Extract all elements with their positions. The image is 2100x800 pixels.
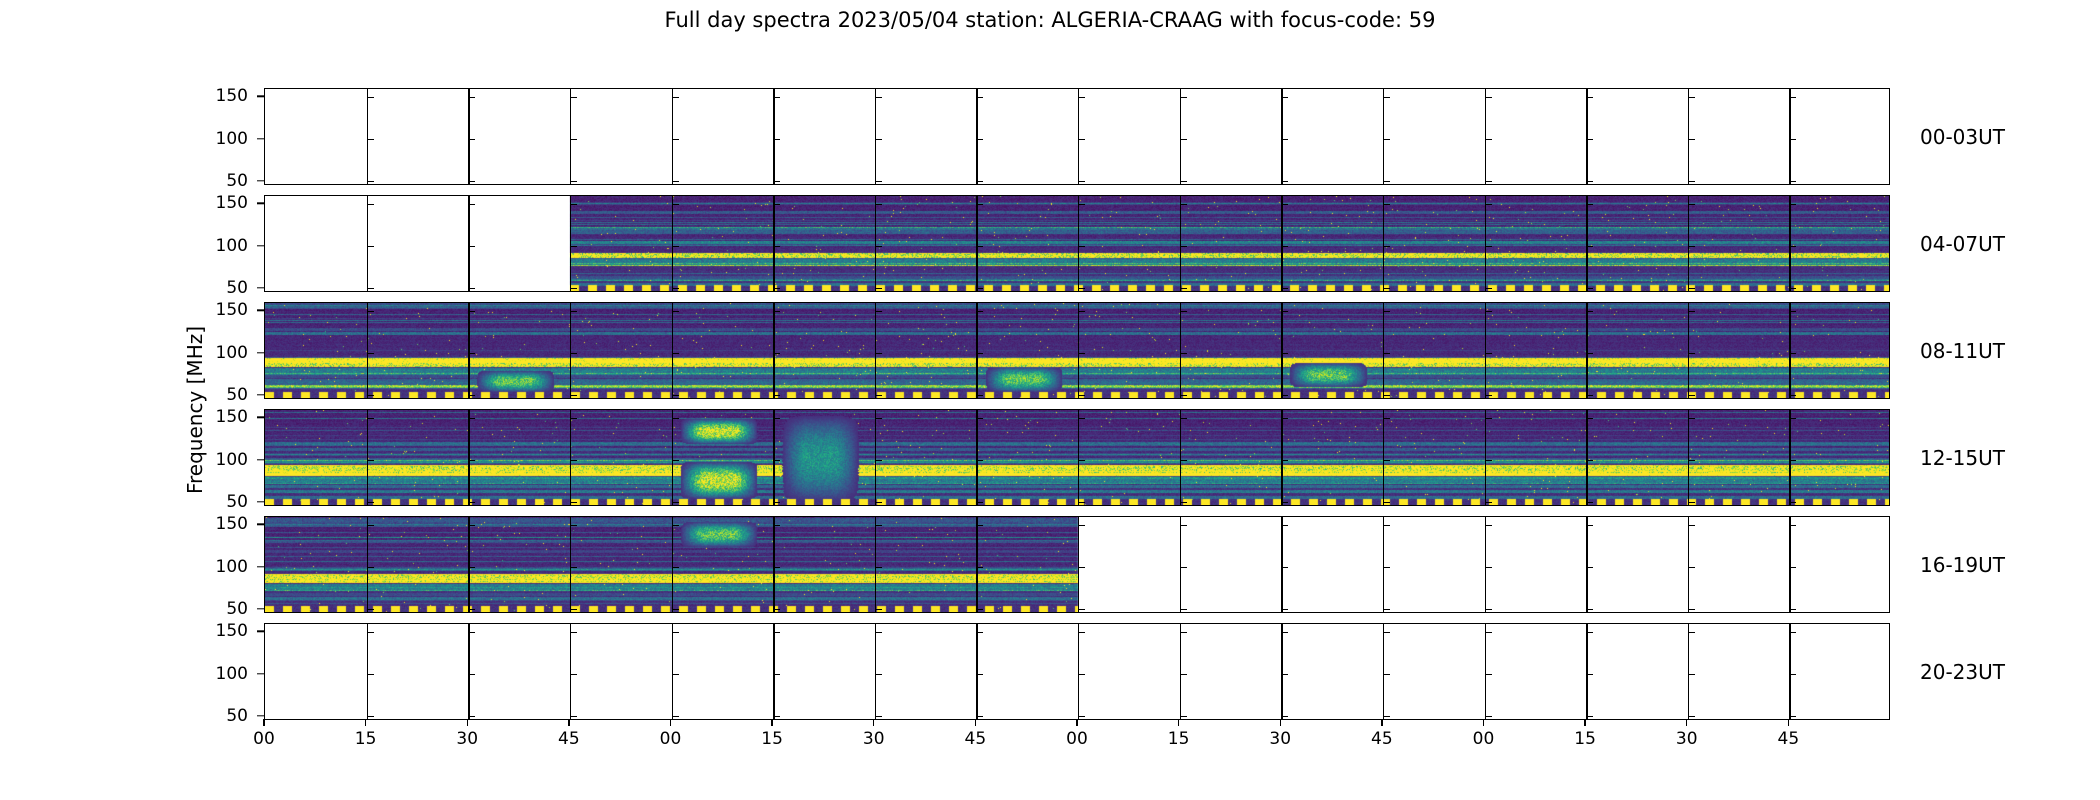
x-tick-mark (670, 719, 671, 726)
y-tick-inner (1586, 181, 1593, 182)
y-tick-inner (1688, 632, 1695, 633)
y-tick-mark (257, 96, 264, 97)
y-tick-label: 50 (188, 171, 248, 191)
y-tick-inner (570, 97, 577, 98)
y-tick-label: 100 (188, 450, 248, 470)
y-tick-inner (1383, 181, 1390, 182)
y-tick-inner (1180, 97, 1187, 98)
spectrogram-figure: Full day spectra 2023/05/04 station: ALG… (0, 0, 2100, 800)
y-tick-inner (1078, 97, 1085, 98)
x-tick-label: 30 (1250, 729, 1310, 749)
panel-separator (1688, 624, 1689, 719)
y-tick-inner (1281, 97, 1288, 98)
y-tick-inner (570, 181, 577, 182)
panel-separator (773, 89, 774, 184)
y-tick-inner (1180, 139, 1187, 140)
y-tick-inner (1078, 181, 1085, 182)
x-tick-label: 15 (1555, 729, 1615, 749)
y-tick-inner (1789, 139, 1796, 140)
y-tick-inner (570, 716, 577, 717)
spectrogram-row-12-15ut (264, 409, 1890, 506)
x-tick-mark (1788, 719, 1789, 726)
y-tick-mark (257, 608, 264, 609)
panel-separator (570, 89, 571, 184)
x-tick-label: 45 (945, 729, 1005, 749)
y-tick-mark (257, 715, 264, 716)
y-tick-label: 100 (188, 129, 248, 149)
spectrogram-row-04-07ut (264, 195, 1890, 292)
x-tick-mark (1686, 719, 1687, 726)
panel-separator (1789, 89, 1790, 184)
y-tick-mark (257, 566, 264, 567)
panel-separator (1485, 624, 1486, 719)
panel-separator (1383, 89, 1384, 184)
y-tick-label: 100 (188, 343, 248, 363)
spectrogram-image (265, 410, 1890, 506)
y-tick-label: 50 (188, 278, 248, 298)
panel-separator (1485, 89, 1486, 184)
panel-separator (1281, 624, 1282, 719)
y-tick-inner (367, 139, 374, 140)
y-tick-inner (1485, 97, 1492, 98)
row-label-12-15ut: 12-15UT (1920, 446, 2005, 470)
x-tick-mark (1483, 719, 1484, 726)
row-label-04-07ut: 04-07UT (1920, 232, 2005, 256)
y-tick-inner (1485, 139, 1492, 140)
row-label-00-03ut: 00-03UT (1920, 125, 2005, 149)
y-tick-inner (1688, 181, 1695, 182)
panel-separator (976, 89, 977, 184)
row-label-16-19ut: 16-19UT (1920, 553, 2005, 577)
y-tick-mark (257, 287, 264, 288)
panel-separator (1281, 89, 1282, 184)
panel-separator (672, 624, 673, 719)
y-tick-label: 50 (188, 492, 248, 512)
y-tick-inner (1383, 97, 1390, 98)
x-tick-mark (365, 719, 366, 726)
panel-separator (1688, 89, 1689, 184)
x-tick-mark (1178, 719, 1179, 726)
x-tick-label: 45 (1758, 729, 1818, 749)
y-tick-mark (257, 138, 264, 139)
y-tick-inner (570, 632, 577, 633)
y-tick-mark (257, 245, 264, 246)
y-tick-inner (672, 716, 679, 717)
panel-separator (875, 89, 876, 184)
y-tick-inner (468, 97, 475, 98)
x-tick-label: 15 (1149, 729, 1209, 749)
panel-separator (1789, 624, 1790, 719)
y-tick-label: 150 (188, 193, 248, 213)
y-tick-inner (1586, 632, 1593, 633)
y-tick-inner (1281, 632, 1288, 633)
y-tick-inner (1688, 716, 1695, 717)
x-tick-mark (568, 719, 569, 726)
figure-title: Full day spectra 2023/05/04 station: ALG… (0, 8, 2100, 32)
panel-gridlines (265, 89, 1889, 184)
y-tick-label: 50 (188, 706, 248, 726)
y-tick-inner (875, 716, 882, 717)
panel-separator (976, 624, 977, 719)
x-tick-mark (873, 719, 874, 726)
x-tick-label: 15 (742, 729, 802, 749)
panel-separator (1180, 89, 1181, 184)
y-tick-mark (257, 417, 264, 418)
x-tick-label: 00 (1454, 729, 1514, 749)
y-tick-mark (257, 394, 264, 395)
y-tick-inner (468, 632, 475, 633)
y-tick-inner (1586, 716, 1593, 717)
x-tick-mark (467, 719, 468, 726)
y-tick-inner (672, 674, 679, 675)
y-tick-inner (1180, 716, 1187, 717)
y-tick-inner (976, 716, 983, 717)
y-tick-inner (1688, 674, 1695, 675)
y-tick-inner (1688, 97, 1695, 98)
y-tick-inner (1180, 181, 1187, 182)
y-tick-inner (1789, 716, 1796, 717)
y-tick-label: 100 (188, 557, 248, 577)
y-tick-inner (875, 97, 882, 98)
y-tick-label: 150 (188, 407, 248, 427)
y-tick-inner (1078, 139, 1085, 140)
y-tick-label: 150 (188, 514, 248, 534)
y-tick-label: 100 (188, 664, 248, 684)
panel-separator (1078, 624, 1079, 719)
y-tick-mark (257, 501, 264, 502)
y-tick-mark (257, 673, 264, 674)
y-tick-inner (468, 181, 475, 182)
y-tick-inner (1078, 716, 1085, 717)
y-tick-inner (1586, 97, 1593, 98)
spectrogram-image (265, 196, 1890, 292)
y-tick-inner (672, 632, 679, 633)
y-tick-inner (1078, 632, 1085, 633)
y-tick-inner (672, 139, 679, 140)
x-tick-label: 45 (1352, 729, 1412, 749)
y-tick-inner (875, 181, 882, 182)
x-tick-label: 00 (1047, 729, 1107, 749)
y-tick-inner (773, 632, 780, 633)
y-tick-inner (976, 674, 983, 675)
panel-separator (1180, 624, 1181, 719)
panel-separator (367, 89, 368, 184)
x-tick-label: 45 (539, 729, 599, 749)
y-tick-label: 150 (188, 300, 248, 320)
y-tick-inner (1180, 632, 1187, 633)
y-tick-inner (976, 632, 983, 633)
panel-separator (367, 624, 368, 719)
y-tick-label: 50 (188, 385, 248, 405)
panel-separator (1078, 89, 1079, 184)
y-tick-inner (773, 139, 780, 140)
y-tick-inner (1485, 716, 1492, 717)
x-tick-label: 30 (844, 729, 904, 749)
panel-separator (875, 624, 876, 719)
x-tick-label: 15 (336, 729, 396, 749)
y-tick-inner (367, 716, 374, 717)
y-tick-mark (257, 352, 264, 353)
x-tick-mark (771, 719, 772, 726)
panel-separator (672, 89, 673, 184)
y-tick-inner (367, 181, 374, 182)
y-tick-inner (773, 716, 780, 717)
spectrogram-row-20-23ut (264, 623, 1890, 720)
y-tick-inner (1586, 139, 1593, 140)
y-tick-inner (773, 97, 780, 98)
panel-gridlines (265, 624, 1889, 719)
y-tick-inner (875, 674, 882, 675)
y-tick-label: 150 (188, 621, 248, 641)
y-tick-inner (1485, 181, 1492, 182)
y-tick-mark (257, 631, 264, 632)
y-tick-mark (257, 459, 264, 460)
y-tick-inner (1383, 632, 1390, 633)
y-tick-inner (570, 674, 577, 675)
y-tick-inner (1789, 632, 1796, 633)
y-tick-inner (1383, 716, 1390, 717)
panel-separator (773, 624, 774, 719)
spectrogram-row-00-03ut (264, 88, 1890, 185)
x-tick-label: 00 (234, 729, 294, 749)
row-label-20-23ut: 20-23UT (1920, 660, 2005, 684)
y-tick-inner (1383, 139, 1390, 140)
y-tick-inner (468, 139, 475, 140)
y-tick-inner (976, 181, 983, 182)
x-tick-label: 30 (1657, 729, 1717, 749)
x-tick-mark (1280, 719, 1281, 726)
y-tick-inner (1586, 674, 1593, 675)
y-tick-inner (367, 97, 374, 98)
panel-separator (468, 624, 469, 719)
y-tick-inner (1383, 674, 1390, 675)
y-tick-mark (257, 310, 264, 311)
x-tick-label: 30 (437, 729, 497, 749)
y-tick-inner (672, 97, 679, 98)
y-tick-inner (1789, 181, 1796, 182)
panel-separator (1586, 624, 1587, 719)
y-tick-inner (976, 139, 983, 140)
y-tick-inner (367, 674, 374, 675)
y-tick-inner (1281, 181, 1288, 182)
spectrogram-row-08-11ut (264, 302, 1890, 399)
y-tick-inner (468, 716, 475, 717)
row-label-08-11ut: 08-11UT (1920, 339, 2005, 363)
y-tick-label: 50 (188, 599, 248, 619)
y-tick-inner (570, 139, 577, 140)
y-tick-inner (1281, 674, 1288, 675)
spectrogram-image (265, 303, 1890, 399)
y-tick-inner (1078, 674, 1085, 675)
panel-separator (570, 624, 571, 719)
y-tick-inner (672, 181, 679, 182)
y-tick-inner (1688, 139, 1695, 140)
x-tick-mark (1381, 719, 1382, 726)
spectrogram-image (265, 517, 1890, 613)
y-tick-inner (1789, 674, 1796, 675)
y-tick-inner (1789, 97, 1796, 98)
panel-separator (468, 89, 469, 184)
x-tick-mark (975, 719, 976, 726)
y-tick-inner (1281, 139, 1288, 140)
y-tick-inner (468, 674, 475, 675)
y-tick-inner (875, 139, 882, 140)
y-tick-inner (976, 97, 983, 98)
y-tick-mark (257, 203, 264, 204)
y-tick-inner (773, 674, 780, 675)
spectrogram-row-16-19ut (264, 516, 1890, 613)
y-tick-inner (1281, 716, 1288, 717)
y-tick-inner (1180, 674, 1187, 675)
panel-separator (1383, 624, 1384, 719)
y-tick-inner (367, 632, 374, 633)
y-tick-inner (773, 181, 780, 182)
y-tick-inner (875, 632, 882, 633)
panel-separator (1586, 89, 1587, 184)
y-tick-inner (1485, 674, 1492, 675)
x-tick-mark (1584, 719, 1585, 726)
y-tick-label: 150 (188, 86, 248, 106)
y-tick-inner (1485, 632, 1492, 633)
x-tick-mark (1076, 719, 1077, 726)
x-tick-label: 00 (641, 729, 701, 749)
x-tick-mark (263, 719, 264, 726)
y-tick-label: 100 (188, 236, 248, 256)
y-tick-mark (257, 524, 264, 525)
y-tick-mark (257, 180, 264, 181)
